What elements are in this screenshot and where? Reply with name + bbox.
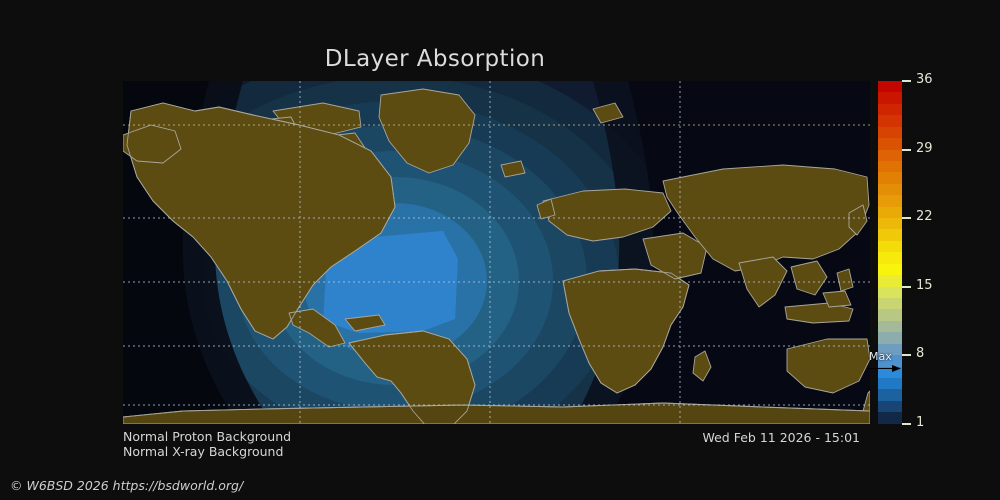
colorbar-segment xyxy=(878,309,902,320)
colorbar-segment xyxy=(878,161,902,172)
colorbar-segment xyxy=(878,150,902,161)
max-arrow-icon xyxy=(868,364,902,373)
colorbar-segment xyxy=(878,104,902,115)
colorbar-segment xyxy=(878,252,902,263)
colorbar-segment xyxy=(878,207,902,218)
colorbar-segment xyxy=(878,92,902,103)
colorbar-tick-dash xyxy=(902,149,911,151)
colorbar-segment xyxy=(878,241,902,252)
page-title: DLayer Absorption xyxy=(0,46,870,72)
colorbar-segment xyxy=(878,218,902,229)
xray-status: Normal X-ray Background xyxy=(123,444,283,459)
dlayer-absorption-figure: DLayer Absorption xyxy=(0,0,1000,500)
max-marker-label: Max xyxy=(869,351,892,363)
colorbar-tick-label: 22 xyxy=(916,209,933,225)
colorbar-tick-label: 15 xyxy=(916,278,933,294)
colorbar-ticks: 3629221581 xyxy=(902,81,962,424)
colorbar-segment xyxy=(878,378,902,389)
colorbar-segment xyxy=(878,138,902,149)
colorbar-segment xyxy=(878,321,902,332)
colorbar-segment xyxy=(878,412,902,423)
colorbar-segment xyxy=(878,287,902,298)
colorbar-segment xyxy=(878,127,902,138)
colorbar-segment xyxy=(878,229,902,240)
colorbar-segment xyxy=(878,298,902,309)
colorbar-segment xyxy=(878,275,902,286)
colorbar-segment xyxy=(878,264,902,275)
colorbar-segment xyxy=(878,115,902,126)
colorbar-tick-label: 1 xyxy=(916,415,924,431)
colorbar-max-marker: Max xyxy=(868,352,904,374)
colorbar-tick-dash xyxy=(902,217,911,219)
colorbar-segment xyxy=(878,172,902,183)
world-map-canvas xyxy=(123,81,870,424)
colorbar-segment xyxy=(878,389,902,400)
colorbar-segment xyxy=(878,332,902,343)
colorbar-segment xyxy=(878,184,902,195)
copyright-notice: © W6BSD 2026 https://bsdworld.org/ xyxy=(10,478,243,493)
timestamp: Wed Feb 11 2026 - 15:01 xyxy=(0,430,870,445)
colorbar-tick-label: 8 xyxy=(916,346,924,362)
colorbar-tick-label: 29 xyxy=(916,141,933,157)
colorbar-tick-dash xyxy=(902,286,911,288)
colorbar-segment xyxy=(878,195,902,206)
colorbar-segment xyxy=(878,81,902,92)
colorbar-tick-dash xyxy=(902,80,911,82)
world-map[interactable] xyxy=(123,81,870,424)
colorbar-tick-dash xyxy=(902,423,911,425)
colorbar-tick-label: 36 xyxy=(916,72,933,88)
colorbar-segment xyxy=(878,401,902,412)
